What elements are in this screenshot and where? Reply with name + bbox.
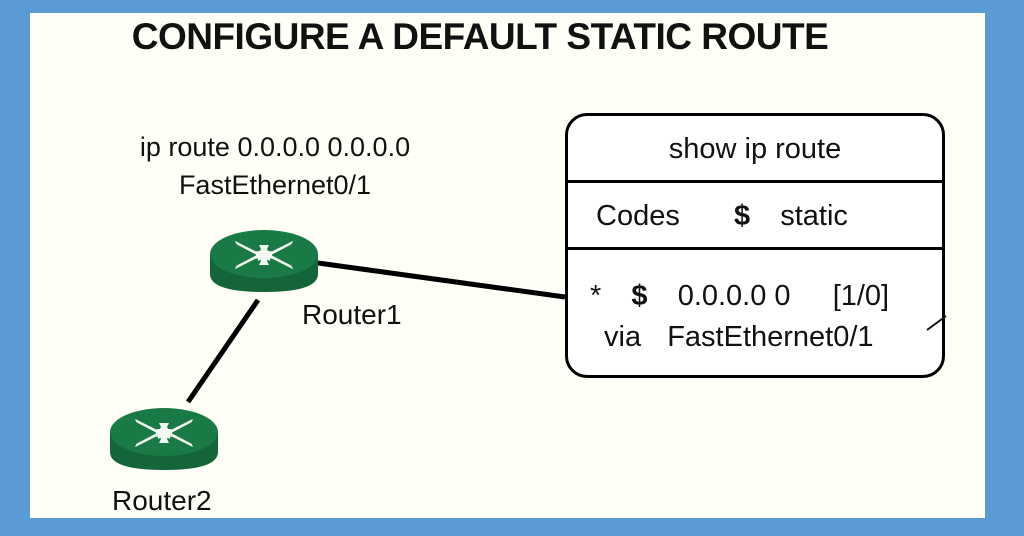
router2-label: Router2: [112, 485, 212, 517]
entry-network: 0.0.0.0 0: [678, 280, 791, 312]
router1-node[interactable]: [206, 212, 322, 309]
entry-selected-marker: *: [590, 280, 601, 312]
codes-symbol: $: [730, 200, 754, 232]
command-line-2: FastEthernet0/1: [110, 166, 440, 204]
router-icon: [106, 390, 222, 482]
route-table-box: show ip route Codes $ static * $ 0.0.0.0…: [565, 113, 945, 378]
entry-code-symbol: $: [627, 280, 651, 312]
static-route-command-annotation: ip route 0.0.0.0 0.0.0.0 FastEthernet0/1: [110, 128, 440, 204]
codes-label: Codes: [596, 200, 680, 232]
codes-meaning: static: [780, 200, 848, 232]
entry-via-label: via: [604, 321, 641, 353]
route-entry-line-2: via FastEthernet0/1: [590, 317, 942, 358]
route-table-codes-row: Codes $ static: [568, 183, 942, 250]
route-entry-line-1: * $ 0.0.0.0 0 [1/0]: [590, 276, 942, 317]
entry-metric: [1/0]: [833, 280, 889, 312]
entry-interface: FastEthernet0/1: [667, 321, 873, 353]
router-icon: [206, 212, 322, 304]
pen-stroke-mark: [926, 315, 948, 331]
command-line-1: ip route 0.0.0.0 0.0.0.0: [140, 132, 410, 162]
page-title: CONFIGURE A DEFAULT STATIC ROUTE: [30, 16, 930, 58]
route-table-entry-row: * $ 0.0.0.0 0 [1/0] via FastEthernet0/1: [568, 250, 942, 375]
router1-label: Router1: [302, 299, 402, 331]
diagram-canvas: CONFIGURE A DEFAULT STATIC ROUTE ip rout…: [0, 0, 1024, 536]
route-table-header: show ip route: [568, 116, 942, 183]
router2-node[interactable]: [106, 390, 222, 487]
